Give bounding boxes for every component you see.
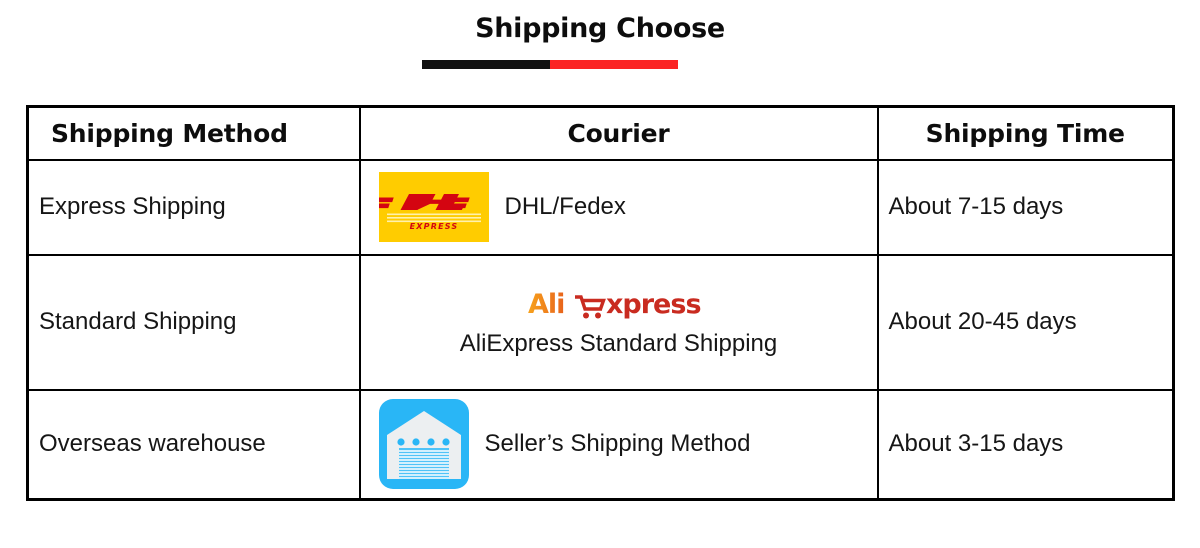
column-header-courier: Courier <box>360 107 878 160</box>
svg-text:xpress: xpress <box>606 289 701 320</box>
page-title-block: Shipping Choose <box>0 12 1200 46</box>
cell-courier: EXPRESS DHL/Fedex <box>360 160 878 255</box>
warehouse-icon <box>379 399 469 489</box>
cell-courier: Ali xpress <box>360 255 878 390</box>
shipping-options-table: Shipping Method Courier Shipping Time Ex… <box>26 105 1175 501</box>
courier-label: AliExpress Standard Shipping <box>460 330 778 358</box>
svg-text:EXPRESS: EXPRESS <box>409 222 458 231</box>
cell-shipping-time: About 3-15 days <box>878 390 1174 500</box>
courier-content: Seller’s Shipping Method <box>371 399 867 489</box>
cell-courier: Seller’s Shipping Method <box>360 390 878 500</box>
cell-shipping-method: Express Shipping <box>28 160 360 255</box>
table-row: Express Shipping <box>28 160 1174 255</box>
aliexpress-logo: Ali xpress <box>528 287 710 326</box>
column-header-shipping-method: Shipping Method <box>28 107 360 160</box>
cell-shipping-method: Standard Shipping <box>28 255 360 390</box>
courier-label: DHL/Fedex <box>505 193 626 221</box>
courier-content: EXPRESS DHL/Fedex <box>371 172 867 242</box>
title-underline-red-segment <box>550 60 678 69</box>
title-underline-dark-segment <box>422 60 550 69</box>
dhl-express-logo: EXPRESS <box>379 172 489 242</box>
cell-shipping-time: About 20-45 days <box>878 255 1174 390</box>
table-row: Standard Shipping Ali <box>28 255 1174 390</box>
title-underline <box>422 60 678 69</box>
table-row: Overseas warehouse <box>28 390 1174 500</box>
page-title: Shipping Choose <box>0 12 1200 46</box>
courier-content: Ali xpress <box>371 287 867 358</box>
table-header-row: Shipping Method Courier Shipping Time <box>28 107 1174 160</box>
shipping-choose-panel: Shipping Choose Shipping Method Courier … <box>0 0 1200 548</box>
cell-shipping-method: Overseas warehouse <box>28 390 360 500</box>
cell-shipping-time: About 7-15 days <box>878 160 1174 255</box>
courier-label: Seller’s Shipping Method <box>485 430 751 458</box>
svg-text:Ali: Ali <box>528 289 564 320</box>
column-header-shipping-time: Shipping Time <box>878 107 1174 160</box>
